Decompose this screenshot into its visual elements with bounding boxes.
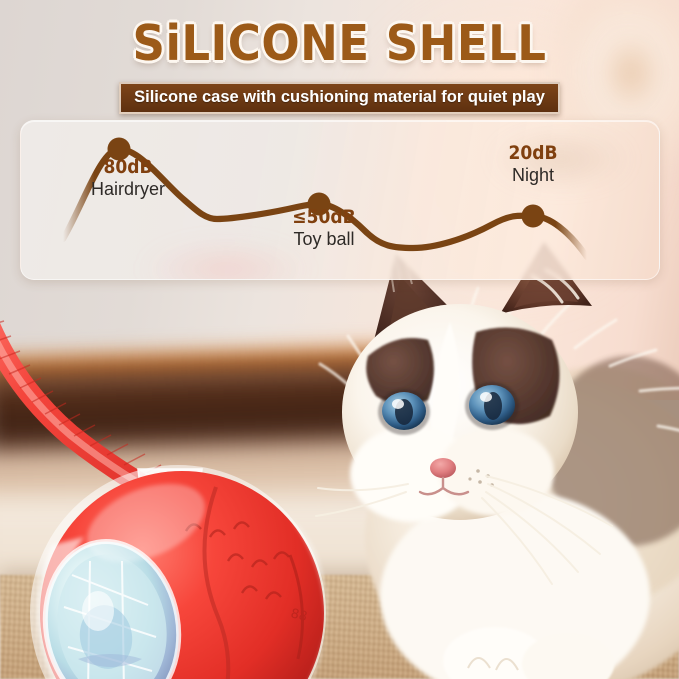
- wave-label-hairdryer: 80dB Hairdryer: [69, 157, 187, 200]
- wave-label-toyball: ≤50dB Toy ball: [261, 207, 387, 250]
- red-silicone-cat-toy: 88: [0, 255, 380, 679]
- subtitle-container: Silicone case with cushioning material f…: [0, 82, 679, 114]
- wave-label-night: 20dB Night: [477, 143, 589, 186]
- wave-label-night-name: Night: [477, 165, 589, 186]
- subtitle-banner: Silicone case with cushioning material f…: [119, 82, 560, 114]
- cat-left-eye: [378, 389, 430, 435]
- wave-label-hairdryer-db: 80dB: [75, 157, 181, 178]
- wave-label-night-db: 20dB: [483, 143, 584, 164]
- noise-comparison-panel: 80dB Hairdryer ≤50dB Toy ball 20dB Night: [20, 120, 660, 280]
- cat-right-eye: [465, 382, 519, 430]
- ball-body: 88: [30, 465, 327, 679]
- red-braided-cord: [0, 283, 161, 493]
- product-infographic: 88 SiLICONE SHELL Silicone case with cus…: [0, 0, 679, 679]
- wave-label-hairdryer-name: Hairdryer: [69, 179, 187, 200]
- wave-dot-night: [522, 205, 545, 228]
- wave-label-toyball-name: Toy ball: [261, 229, 387, 250]
- wave-label-toyball-db: ≤50dB: [267, 207, 380, 228]
- page-title: SiLICONE SHELL: [27, 16, 652, 72]
